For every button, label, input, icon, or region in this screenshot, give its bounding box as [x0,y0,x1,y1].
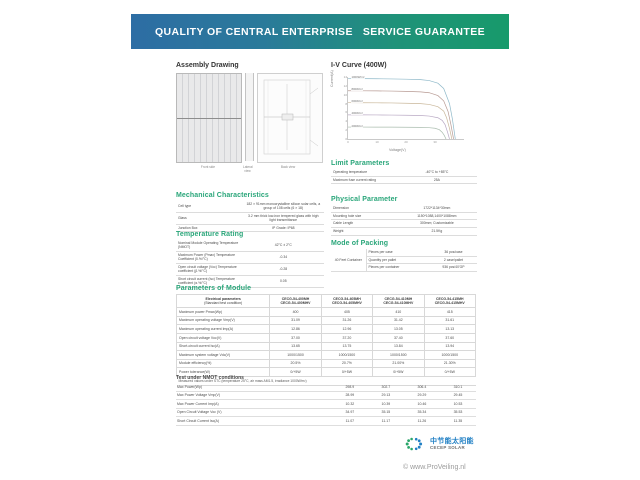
iv-series-line [348,127,446,139]
row-value: 21.30% [424,359,475,368]
row-value: 13.05 [373,325,424,334]
row-key: Pieces per case [366,249,430,256]
row-key: Mounting hole size [331,212,397,220]
row-label: Short Circuit Current Isc(A) [176,417,332,426]
parameters-model-header: CECG-54-400MHCECG-54-400MHV [270,295,321,308]
iv-x-tick: 20 [404,140,407,144]
row-value: 28.99 [332,391,368,400]
row-label: Max Power Voltage Vmp(V) [176,391,332,400]
physical-row: Mounting hole size1150*1088,1400*1088mm [331,212,477,220]
row-value: 10.32 [332,400,368,409]
nmot-row: Max Power Current Imp(A)10.3210.3910.461… [176,400,476,409]
iv-y-tick: 8 [345,102,347,106]
iv-y-tick: 10 [344,93,347,97]
parameters-model-header: CECG-54-410MHCECG-54-410MHV [373,295,424,308]
row-value: 182 × 91mm monocrystalline silicon solar… [243,201,324,212]
row-value: 11.35 [440,417,476,426]
row-value: 13.65 [270,342,321,351]
view-label-back: Back view [255,165,321,173]
row-value: 42°C ± 2°C [243,240,324,251]
row-key: Glass [176,212,243,224]
row-value: -0.28 [243,263,324,275]
row-label: Short-circuit current Isc(A) [177,342,270,351]
row-value: 25A [397,176,477,184]
row-key: Nominal Module Operating Temperature (NM… [176,240,243,251]
assembly-drawing-caption: Assembly Drawing [176,62,324,69]
row-value: 298.9 [332,383,368,391]
datasheet-page: QUALITY OF CENTRAL ENTERPRISESERVICE GUA… [0,0,640,480]
iv-series-label: 200W/m² [351,124,363,128]
row-value: 10.53 [440,400,476,409]
iv-y-tick: 14 [344,75,347,79]
row-key: Maximum fuse current rating [331,176,397,184]
row-key: Maximum Power (Pmax) Temperature Coeffic… [176,251,243,263]
physical-parameter-block: Physical Parameter Dimension1722*1134*30… [331,196,477,236]
iv-x-tick: 0 [347,140,349,144]
row-value: 35.53 [440,408,476,417]
assembly-drawing-block: Assembly Drawing Front side Lateral vie [176,62,324,173]
mode-of-packing-block: Mode of Packing 40 Feet ContainerPieces … [331,240,477,272]
module-front-view-icon [176,73,242,163]
row-label: Open circuit voltage Voc(V) [177,333,270,342]
parameters-row: Maximum operating voltage Vmp(V)31.0931.… [177,316,476,325]
parameters-row: Maximum system voltage Vdc(V)1000/150010… [177,351,476,360]
parameters-row: Short-circuit current Isc(A)13.6513.7513… [177,342,476,351]
nmot-row: Short Circuit Current Isc(A)11.0711.1711… [176,417,476,426]
iv-curve-block: I-V Curve (400W) Current(A) Voltage(V) 0… [331,62,481,151]
nmot-row: Max Power Voltage Vmp(V)28.9929.1329.292… [176,391,476,400]
row-value: 10.39 [368,400,404,409]
row-value: 300mm; Customizable [397,220,477,228]
row-label: Maximum operating current Imp(A) [177,325,270,334]
temperature-rating-block: Temperature Rating Nominal Module Operat… [176,231,324,288]
row-value: 936 pcs/40'GP [430,264,477,272]
parameters-row: Open circuit voltage Voc(V)37.0037.2037.… [177,333,476,342]
row-value: 13.13 [424,325,475,334]
row-value: 1000/1500 [373,351,424,360]
row-value: 29.29 [404,391,440,400]
parameters-table: Electrical parameters(Standard test cond… [176,294,476,386]
packing-container-label: 40 Feet Container [331,249,366,271]
row-key: Cable Length [331,220,397,228]
row-value: 1000/1500 [321,351,372,360]
iv-series-label: 400W/m² [351,111,363,115]
limit-row: Operating temperature-40°C to +85°C [331,169,477,176]
row-value: 1722*1134*30mm [397,205,477,212]
row-value: 29.13 [368,391,404,400]
iv-x-tick: 10 [375,140,378,144]
parameters-model-header: CECG-54-405MHCECG-54-405MHV [321,295,372,308]
limit-row: Maximum fuse current rating25A [331,176,477,184]
physical-row: Dimension1722*1134*30mm [331,205,477,212]
mechanical-row: Glass3.2 mm thick low-iron tempered glas… [176,212,324,224]
iv-curve-caption: I-V Curve (400W) [331,62,481,69]
parameters-header-row: Electrical parameters(Standard test cond… [177,295,476,308]
nmot-row: Open Circuit Voltage Voc (V)34.9735.1535… [176,408,476,417]
assembly-drawing-figure [176,73,324,163]
banner-title: QUALITY OF CENTRAL ENTERPRISESERVICE GUA… [155,26,485,38]
row-value: 31.09 [270,316,321,325]
logo-text-en: CECEP SOLAR [430,446,474,450]
physical-row: Cable Length300mm; Customizable [331,220,477,228]
row-value: 306.4 [404,383,440,391]
row-value: 31.42 [373,316,424,325]
row-value: 37.20 [321,333,372,342]
iv-x-tick: 30 [433,140,436,144]
row-value: 11.07 [332,417,368,426]
iv-plot-area: 0246810121401020301000W/m²800W/m²600W/m²… [347,77,464,140]
row-key: Operating temperature [331,169,397,176]
iv-series-label: 800W/m² [351,87,363,91]
row-value: 36 pcs/case [430,249,477,256]
row-value: 415 [424,308,475,317]
temperature-row: Nominal Module Operating Temperature (NM… [176,240,324,251]
row-label: Max Power(Wp) [176,383,332,391]
packing-heading: Mode of Packing [331,240,477,247]
physical-row: Weight21.5Kg [331,227,477,235]
row-value: 1000/1500 [424,351,475,360]
nmot-row: Max Power(Wp)298.9302.7306.4310.1 [176,383,476,391]
iv-y-tick: 12 [344,84,347,88]
parameters-row: Maximum operating current Imp(A)12.8612.… [177,325,476,334]
row-value: 2 case/pallet [430,256,477,264]
row-value: 13.84 [373,342,424,351]
cecep-solar-logo-icon [404,437,426,451]
iv-series-label: 1000W/m² [351,75,365,79]
row-value: -0.34 [243,251,324,263]
iv-curves [348,77,464,139]
row-value: 31.26 [321,316,372,325]
row-value: 10.46 [404,400,440,409]
logo-mark-icon [404,437,426,451]
row-value: 310.1 [440,383,476,391]
iv-y-tick: 6 [345,110,347,114]
row-label: Maximum power Pmax(Wp) [177,308,270,317]
parameters-row: Maximum power Pmax(Wp)400405410415 [177,308,476,317]
row-label: Maximum system voltage Vdc(V) [177,351,270,360]
parameters-col0-header: Electrical parameters(Standard test cond… [177,295,270,308]
banner-title-part2: SERVICE GUARANTEE [363,26,485,38]
watermark: © www.ProVeiling.nl [403,464,466,471]
temperature-row: Maximum Power (Pmax) Temperature Coeffic… [176,251,324,263]
row-value: 11.26 [404,417,440,426]
view-label-lateral: Lateral view [243,165,252,173]
mechanical-row: Cell type182 × 91mm monocrystalline sili… [176,201,324,212]
iv-y-tick: 2 [345,128,347,132]
row-value: 405 [321,308,372,317]
row-value: 37.60 [424,333,475,342]
row-value: 11.17 [368,417,404,426]
row-value: 12.86 [270,325,321,334]
row-value: 400 [270,308,321,317]
logo-text: 中节能太阳能 CECEP SOLAR [430,438,474,451]
physical-heading: Physical Parameter [331,196,477,203]
row-label: Max Power Current Imp(A) [176,400,332,409]
iv-series-label: 600W/m² [351,99,363,103]
row-key: Quantity per pallet [366,256,430,264]
row-key: Weight [331,227,397,235]
row-value: -40°C to +85°C [397,169,477,176]
row-value: 1150*1088,1400*1088mm [397,212,477,220]
row-value: 37.40 [373,333,424,342]
row-value: 12.96 [321,325,372,334]
row-value: 34.97 [332,408,368,417]
row-value: 21.5Kg [397,227,477,235]
nmot-table: Max Power(Wp)298.9302.7306.4310.1Max Pow… [176,383,476,426]
iv-curve-chart: Current(A) Voltage(V) 024681012140102030… [331,73,471,151]
row-value: 302.7 [368,383,404,391]
view-label-front: Front side [176,165,240,173]
parameters-row: Module efficiency(%)20.5%20.7%21.00%21.3… [177,359,476,368]
assembly-view-labels: Front side Lateral view Back view [176,165,324,173]
limit-table: Operating temperature-40°C to +85°CMaxim… [331,169,477,184]
row-label: Module efficiency(%) [177,359,270,368]
parameters-heading: Parameters of Module [176,285,476,292]
row-value: 29.45 [440,391,476,400]
row-key: Cell type [176,201,243,212]
row-value: 13.94 [424,342,475,351]
logo-text-cn: 中节能太阳能 [430,438,474,445]
limit-heading: Limit Parameters [331,160,477,167]
iv-y-tick: 4 [345,119,347,123]
row-key: Open circuit voltage (Voc) Temperature c… [176,263,243,275]
mechanical-characteristics-block: Mechanical Characteristics Cell type182 … [176,192,324,232]
parameters-of-module-block: Parameters of Module Electrical paramete… [176,285,476,386]
banner-title-part1: QUALITY OF CENTRAL ENTERPRISE [155,26,353,38]
row-value: 31.61 [424,316,475,325]
physical-table: Dimension1722*1134*30mmMounting hole siz… [331,205,477,236]
module-lateral-view-icon [245,73,254,161]
row-label: Open Circuit Voltage Voc (V) [176,408,332,417]
row-value: 410 [373,308,424,317]
packing-row: 40 Feet ContainerPieces per case36 pcs/c… [331,249,477,256]
temperature-row: Open circuit voltage (Voc) Temperature c… [176,263,324,275]
temperature-table: Nominal Module Operating Temperature (NM… [176,240,324,288]
row-value: 20.7% [321,359,372,368]
company-logo: 中节能太阳能 CECEP SOLAR [404,437,474,451]
row-value: 37.00 [270,333,321,342]
row-value: 13.75 [321,342,372,351]
limit-parameters-block: Limit Parameters Operating temperature-4… [331,160,477,184]
row-label: Maximum operating voltage Vmp(V) [177,316,270,325]
iv-axis-label-x: Voltage(V) [389,148,406,152]
row-key: Pieces per container [366,264,430,272]
nmot-heading: Test under NMOT conditions [176,375,476,381]
header-banner: QUALITY OF CENTRAL ENTERPRISESERVICE GUA… [131,14,509,49]
packing-table: 40 Feet ContainerPieces per case36 pcs/c… [331,249,477,272]
row-value: 20.5% [270,359,321,368]
module-back-view-icon [257,73,323,163]
row-value: 21.00% [373,359,424,368]
row-value: 3.2 mm thick low-iron tempered glass wit… [243,212,324,224]
nmot-block: Test under NMOT conditions Max Power(Wp)… [176,375,476,426]
temperature-heading: Temperature Rating [176,231,324,238]
back-view-diagram-icon [258,74,322,162]
parameters-model-header: CECG-54-415MHCECG-54-415MHV [424,295,475,308]
row-value: 1000/1500 [270,351,321,360]
row-key: Dimension [331,205,397,212]
row-value: 35.34 [404,408,440,417]
mechanical-heading: Mechanical Characteristics [176,192,324,199]
iv-series-line [348,103,452,139]
iv-axis-label-y: Current(A) [330,70,334,87]
mechanical-table: Cell type182 × 91mm monocrystalline sili… [176,201,324,232]
row-value: 35.15 [368,408,404,417]
